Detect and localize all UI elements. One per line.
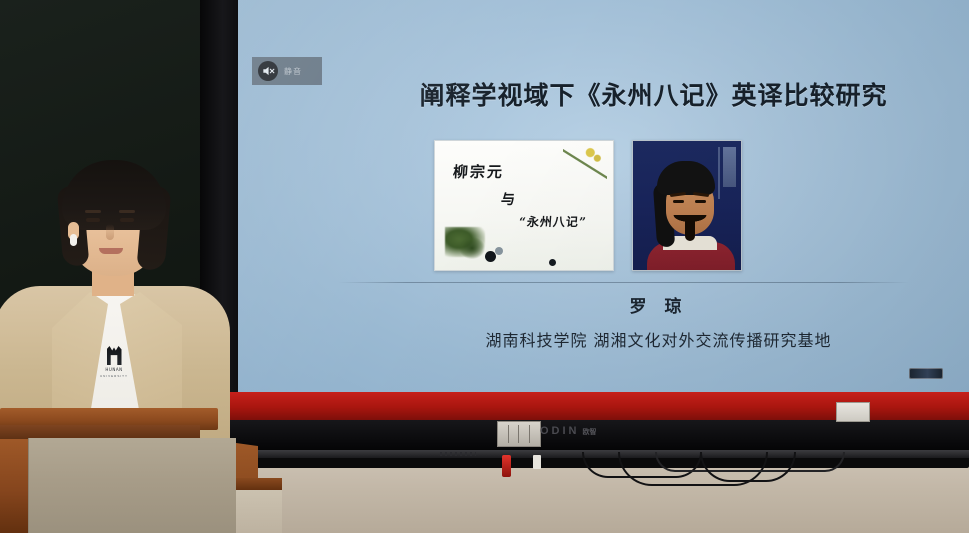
presenter-eye-left: [86, 218, 100, 222]
white-connector: [533, 455, 541, 469]
presenter-eye-right: [120, 218, 134, 222]
mute-badge-label: 静音: [284, 66, 302, 77]
portrait-vertical-rule: [718, 147, 720, 199]
slide-presenter-name: 罗 琼: [238, 292, 969, 317]
tv-screen[interactable]: 静音 阐释学视域下《永州八记》英译比较研究 柳宗元 与 “永州八记”: [238, 0, 969, 392]
tv-control-panel[interactable]: [497, 421, 541, 447]
tv-brand-name: ODIN: [540, 425, 580, 437]
portrait-eye-right: [695, 200, 706, 203]
portrait-futou-hat: [657, 161, 715, 195]
tshirt-logo-mark: [107, 346, 122, 365]
hanging-cable: [700, 452, 796, 482]
tshirt-logo-subtext: UNIVERSITY: [100, 374, 128, 378]
ink-dot-grey: [495, 247, 503, 255]
liu-zongyuan-portrait: [632, 140, 742, 271]
portrait-eye-left: [673, 200, 684, 203]
presenter-nose: [106, 224, 114, 240]
slide-title: 阐释学视域下《永州八记》英译比较研究: [238, 76, 969, 112]
presentation-slide: 静音 阐释学视域下《永州八记》英译比较研究 柳宗元 与 “永州八记”: [238, 0, 969, 392]
ink-dot-small: [549, 259, 556, 266]
tv-brand-logo: ODIN欧智: [540, 425, 597, 437]
lecture-room-scene: 静音 阐释学视域下《永州八记》英译比较研究 柳宗元 与 “永州八记”: [0, 0, 969, 533]
ink-wash-foliage-dark: [459, 237, 485, 259]
interactive-tv[interactable]: 静音 阐释学视域下《永州八记》英译比较研究 柳宗元 与 “永州八记”: [200, 0, 969, 468]
slide-watermark-badge: [909, 368, 943, 379]
presenter-hair-top: [62, 160, 166, 230]
lectern-podium: [28, 438, 236, 533]
calligraphy-line-1: 柳宗元: [452, 161, 504, 182]
wall-socket: [836, 402, 870, 422]
podium-left-wood-panel: [0, 430, 30, 533]
slide-affiliation: 湖南科技学院 湖湘文化对外交流传播研究基地: [238, 327, 969, 351]
calligraphy-line-3: “永州八记”: [518, 213, 587, 230]
tshirt-logo-text: HUNAN: [105, 367, 122, 372]
earbud-icon: [70, 234, 77, 246]
red-power-plug: [502, 455, 511, 477]
presenter-brow-left: [85, 210, 101, 213]
tshirt-logo: HUNAN UNIVERSITY: [100, 346, 128, 380]
calligraphy-poster: 柳宗元 与 “永州八记”: [434, 140, 614, 271]
portrait-caption-block: [723, 147, 736, 187]
slide-image-row: 柳宗元 与 “永州八记”: [238, 140, 969, 276]
podium-top-edge-lower: [0, 425, 200, 439]
slide-divider-line: [338, 282, 909, 283]
tv-brand-name-cn: 欧智: [583, 429, 597, 436]
presenter-mouth: [99, 248, 123, 254]
presenter-brow-right: [119, 210, 135, 213]
tv-ir-receiver: [440, 452, 476, 456]
ink-dot-large: [485, 251, 496, 262]
calligraphy-line-2: 与: [500, 189, 515, 209]
plum-branch-decoration: [563, 143, 607, 183]
portrait-beard: [685, 221, 695, 241]
